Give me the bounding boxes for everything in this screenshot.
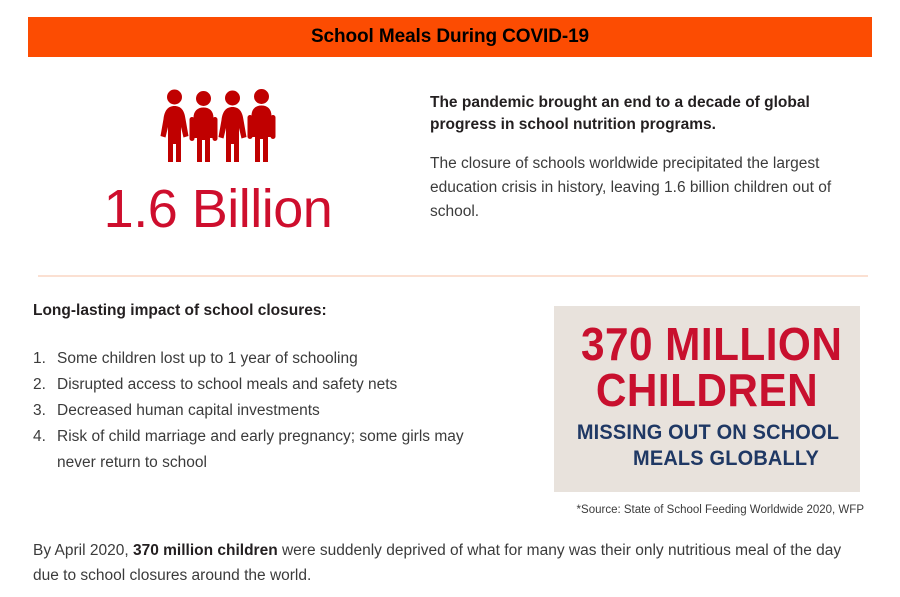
list-item: 2. Disrupted access to school meals and …	[33, 372, 503, 398]
closing-block: By April 2020, 370 million children were…	[33, 538, 843, 588]
list-item-text: Decreased human capital investments	[57, 398, 503, 424]
stat-card-subline-1: MISSING OUT ON SCHOOL	[577, 420, 837, 445]
list-item-text: Risk of child marriage and early pregnan…	[57, 424, 503, 476]
stat-card-line-1: 370 MILLION	[581, 322, 833, 366]
list-item-marker: 4.	[33, 424, 57, 450]
stat-card-subline-2: MEALS GLOBALLY	[577, 446, 837, 471]
list-item-marker: 3.	[33, 398, 57, 424]
stat-card-source: *Source: State of School Feeding Worldwi…	[554, 503, 864, 518]
list-item: 3. Decreased human capital investments	[33, 398, 503, 424]
section-divider	[38, 275, 868, 277]
list-item-text: Disrupted access to school meals and saf…	[57, 372, 503, 398]
closing-bold-figure: 370 million children	[133, 542, 278, 559]
intro-lead-text: The pandemic brought an end to a decade …	[430, 92, 875, 136]
intro-body-text: The closure of schools worldwide precipi…	[430, 152, 875, 224]
four-people-icon	[158, 88, 278, 162]
header-banner: School Meals During COVID-19	[28, 17, 872, 57]
closing-prefix: By April 2020,	[33, 542, 133, 559]
impact-list: 1. Some children lost up to 1 year of sc…	[33, 346, 503, 476]
intro-text-block: The pandemic brought an end to a decade …	[430, 92, 875, 224]
closing-paragraph: By April 2020, 370 million children were…	[33, 538, 843, 588]
stat-card-line-2: CHILDREN	[581, 368, 833, 412]
list-item-marker: 2.	[33, 372, 57, 398]
stat-number: 1.6 Billion	[33, 180, 403, 238]
list-item-marker: 1.	[33, 346, 57, 372]
list-item-text: Some children lost up to 1 year of schoo…	[57, 346, 503, 372]
impact-block: Long-lasting impact of school closures: …	[33, 300, 503, 476]
impact-heading: Long-lasting impact of school closures:	[33, 300, 503, 322]
page-title: School Meals During COVID-19	[311, 26, 589, 48]
list-item: 4. Risk of child marriage and early preg…	[33, 424, 503, 476]
list-item: 1. Some children lost up to 1 year of sc…	[33, 346, 503, 372]
stat-highlight-block: 1.6 Billion	[33, 72, 403, 238]
stat-card: 370 MILLION CHILDREN MISSING OUT ON SCHO…	[554, 306, 860, 492]
top-section: 1.6 Billion The pandemic brought an end …	[0, 72, 900, 257]
